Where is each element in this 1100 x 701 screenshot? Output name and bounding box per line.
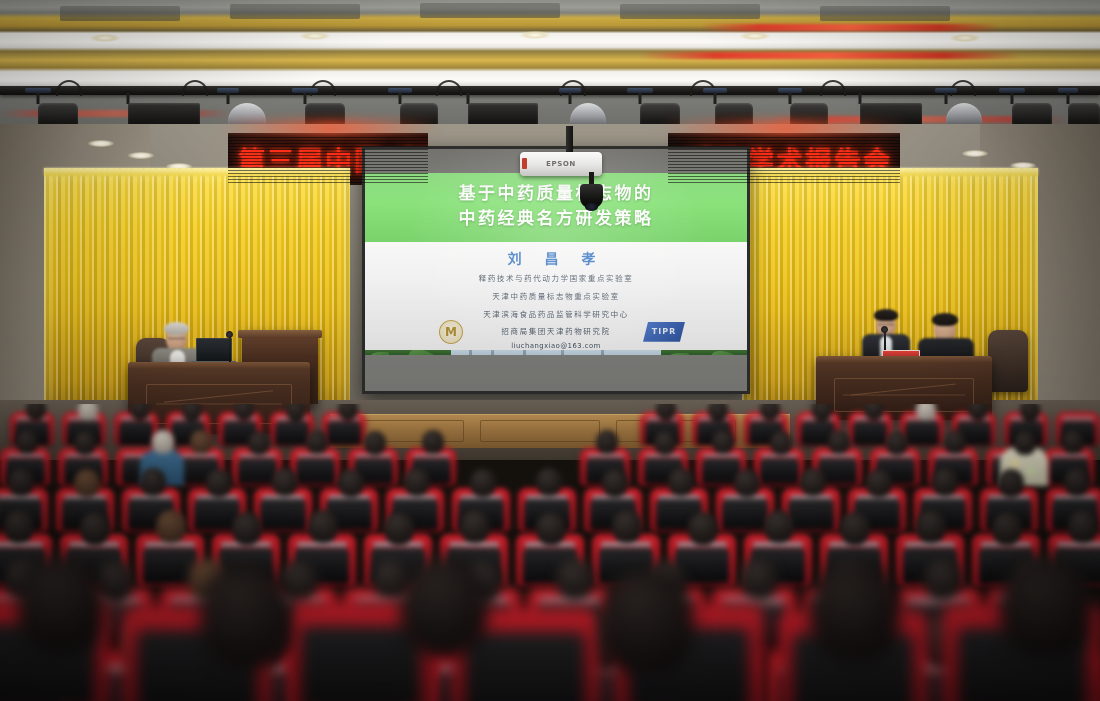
slide-affiliation-2: 天津中药质量标志物重点实验室 — [365, 290, 747, 305]
audience-seating — [0, 404, 1100, 701]
slide-body: 刘 昌 孝 释药技术与药代动力学国家重点实验室 天津中药质量标志物重点实验室 天… — [365, 242, 747, 350]
spot-light-under-projector — [580, 172, 603, 216]
slide-affiliation-4: 招商局集团天津药物研究院 — [365, 325, 747, 340]
projection-screen: 基于中药质量标志物的 中药经典名方研发策略 刘 昌 孝 释药技术与药代动力学国家… — [362, 146, 750, 394]
slide-title-line-1: 基于中药质量标志物的 — [371, 182, 741, 207]
panelist-microphone-stand — [884, 330, 886, 352]
auditorium-photo: 第三届中国-东盟 式及学术报告会 基于中药质量标志物的 中药经典名方研发策略 刘… — [0, 0, 1100, 701]
projector-brand-label: EPSON — [546, 160, 576, 168]
slide-footer-strip — [365, 350, 747, 355]
empty-chair — [988, 330, 1028, 392]
slide-title-line-2: 中药经典名方研发策略 — [371, 207, 741, 232]
peony-image-right — [661, 350, 747, 355]
downlight — [88, 140, 114, 147]
presentation-slide: 基于中药质量标志物的 中药经典名方研发策略 刘 昌 孝 释药技术与药代动力学国家… — [365, 173, 747, 355]
microphone-icon — [226, 331, 233, 338]
institute-logo-icon: M — [439, 320, 463, 344]
slide-affiliation-1: 释药技术与药代动力学国家重点实验室 — [365, 272, 747, 287]
panelist-microphone-icon — [881, 326, 888, 333]
slide-header: 基于中药质量标志物的 中药经典名方研发策略 — [365, 173, 747, 242]
campus-aerial-image — [451, 350, 661, 355]
presenter-laptop — [196, 338, 232, 362]
downlight — [128, 152, 154, 159]
slide-affiliation-3: 天津滨海食品药品监管科学研究中心 — [365, 308, 747, 323]
downlight — [962, 150, 988, 157]
peony-image-left — [365, 350, 451, 355]
tipr-logo-icon: TIPR — [643, 322, 685, 342]
slide-email: liuchangxiao@163.com — [365, 342, 747, 350]
slide-author: 刘 昌 孝 — [365, 249, 747, 269]
